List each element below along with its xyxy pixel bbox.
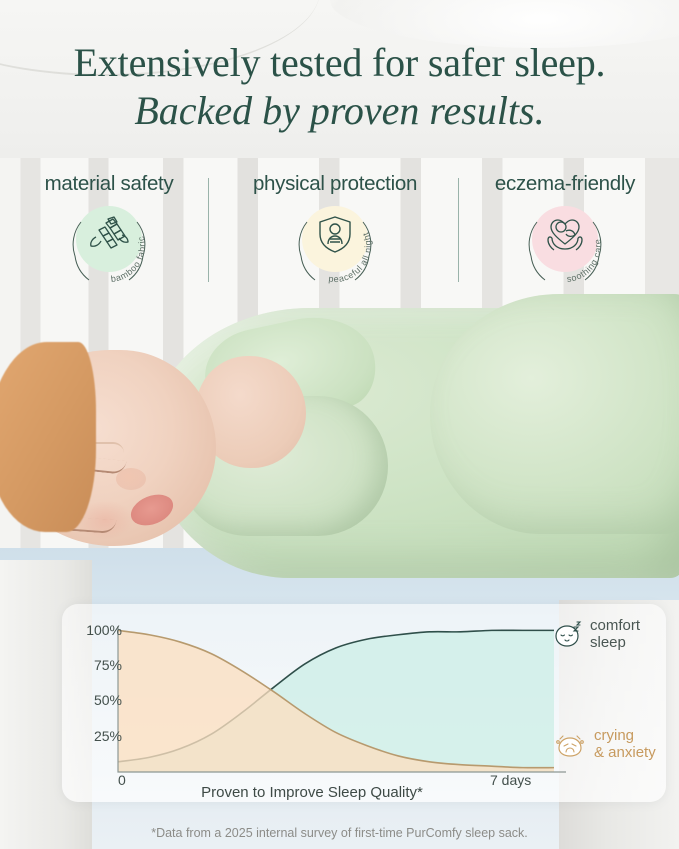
headline-line-2: Backed by proven results. [0, 90, 679, 132]
page-headline: Extensively tested for safer sleep. Back… [0, 42, 679, 133]
shield-baby-icon [312, 211, 358, 257]
legend-crying-anxiety: crying & anxiety [594, 728, 656, 762]
baby-hair [0, 342, 96, 532]
footnote: *Data from a 2025 internal survey of fir… [0, 826, 679, 840]
y-tick-25: 25% [94, 728, 122, 744]
feature-badges: material safety bamboo fabric [0, 172, 679, 290]
legend-label-line1: crying [594, 728, 656, 745]
badge-eczema-friendly: eczema-friendly soothing care [452, 172, 678, 286]
y-tick-50: 50% [94, 692, 122, 708]
y-tick-75: 75% [94, 657, 122, 673]
badge-title: material safety [0, 172, 222, 196]
baby-lower-body [430, 294, 679, 534]
sleeping-baby [0, 300, 679, 600]
sleep-quality-chart: 100% 75% 50% 25% 0 7 days Proven to Impr… [62, 604, 666, 802]
promo-page: Extensively tested for safer sleep. Back… [0, 0, 679, 849]
heart-hands-baby-icon [542, 211, 588, 257]
badge-seal: bamboo fabric [59, 202, 159, 286]
baby-nose [116, 468, 146, 490]
badge-title: eczema-friendly [452, 172, 678, 196]
badge-divider [208, 178, 209, 282]
legend-label-line2: sleep [590, 635, 640, 652]
badge-seal: soothing care [515, 202, 615, 286]
crying-baby-icon [554, 730, 588, 760]
legend-comfort-sleep: comfort sleep [590, 618, 640, 652]
legend-label-line1: comfort [590, 618, 640, 635]
y-tick-100: 100% [86, 622, 122, 638]
badge-physical-protection: physical protection peaceful all night [222, 172, 448, 286]
legend-label-line2: & anxiety [594, 745, 656, 762]
chart-caption: Proven to Improve Sleep Quality* [62, 784, 562, 801]
sleeping-baby-icon [550, 620, 584, 650]
bamboo-icon [86, 211, 132, 257]
badge-material-safety: material safety bamboo fabric [0, 172, 222, 286]
badge-title: physical protection [222, 172, 448, 196]
baby-mouth [126, 489, 177, 531]
y-axis-tick-labels: 100% 75% 50% 25% [74, 622, 122, 772]
headline-line-1: Extensively tested for safer sleep. [0, 42, 679, 84]
badge-divider [458, 178, 459, 282]
badge-seal: peaceful all night [285, 202, 385, 286]
